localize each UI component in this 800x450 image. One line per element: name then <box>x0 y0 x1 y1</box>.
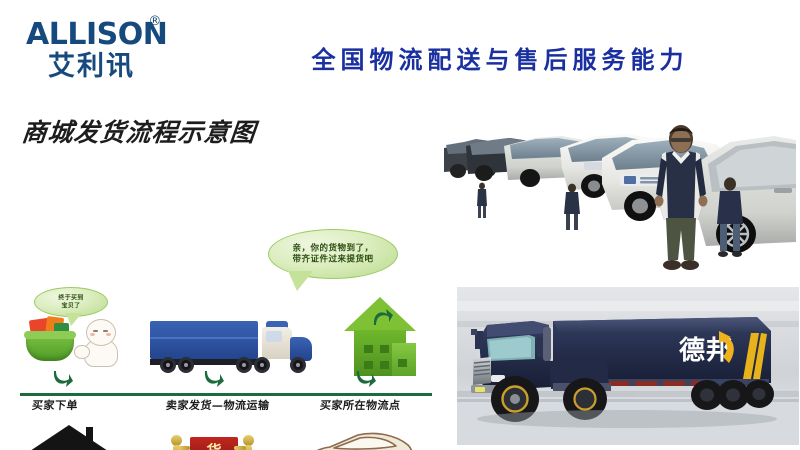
shipping-flow-diagram: 商城发货流程示意图 亲，你的货物到了， 带齐证件过来提货吧 终于买到 宝贝了 <box>0 105 440 415</box>
buyer-arm <box>74 345 90 359</box>
speech-bubble-small-text: 终于买到 宝贝了 <box>35 295 107 310</box>
building-window-2 <box>380 345 389 353</box>
mover-right-torso <box>245 445 252 450</box>
delivery-truck-icon <box>150 321 315 383</box>
speech-bubble-tail-icon <box>288 271 313 291</box>
company-logo: ALLISON ® 艾利讯 <box>26 20 216 90</box>
photo-company-fleet <box>444 118 796 278</box>
buyer-character-icon <box>78 319 122 367</box>
shopping-basket-icon <box>24 317 76 363</box>
truck-trailer <box>150 321 258 359</box>
basket-rim <box>24 331 76 339</box>
mover-left-arm <box>178 446 190 450</box>
truck-wheel-5 <box>290 357 306 373</box>
truck-wheel-1 <box>160 357 176 373</box>
brand-name-en: ALLISON <box>26 20 167 50</box>
truck-windshield <box>266 331 282 342</box>
flow-arrow-2-icon <box>203 369 225 391</box>
building-window-3 <box>364 361 373 369</box>
speech-bubble-small-line-2: 宝贝了 <box>35 302 107 310</box>
truck-wheel-2 <box>178 357 194 373</box>
goods-sign: 货 <box>190 437 238 450</box>
truck-wheel-3 <box>236 357 252 373</box>
buyer-cheek-right <box>106 333 111 336</box>
building-window-4 <box>380 361 389 369</box>
buyer-eye-left <box>93 330 98 332</box>
mover-right-figure <box>240 435 256 450</box>
flow-baseline-top <box>20 393 432 396</box>
buyer-eye-right <box>103 330 108 332</box>
flow-arrow-1-icon <box>52 369 74 391</box>
speech-bubble-small-line-1: 终于买到 <box>35 295 107 303</box>
buyer-car-icon <box>300 427 418 450</box>
step-label-1: 买家下单 <box>31 397 78 413</box>
diagram-title: 商城发货流程示意图 <box>20 113 258 149</box>
building-window-5 <box>398 359 407 367</box>
flow-arrow-3-icon <box>355 369 377 391</box>
buyer-head <box>86 319 116 346</box>
step-label-2: 卖家发货—物流运输 <box>165 397 270 413</box>
mover-right-arm <box>234 446 246 450</box>
brand-name-cn: 艾利讯 <box>48 53 216 81</box>
building-window-1 <box>364 345 373 353</box>
mover-left-figure <box>168 435 184 450</box>
truck-trailer-stripe <box>150 337 258 339</box>
truck-wheel-4 <box>254 357 270 373</box>
movers-carrying-goods-icon: 货 <box>168 427 258 450</box>
staff-member-foreground <box>650 124 712 280</box>
home-house-icon <box>30 425 108 450</box>
registered-trademark-icon: ® <box>148 14 161 29</box>
speech-bubble-line-2: 带齐证件过来提货吧 <box>269 254 397 265</box>
goods-sign-text: 货 <box>206 440 221 450</box>
page-title: 全国物流配送与售后服务能力 <box>240 40 760 75</box>
house-roof <box>30 425 108 450</box>
slide-root: ALLISON ® 艾利讯 全国物流配送与售后服务能力 商城发货流程示意图 亲，… <box>0 0 800 450</box>
speech-bubble-line-1: 亲，你的货物到了， <box>269 243 397 254</box>
speech-bubble-text: 亲，你的货物到了， 带齐证件过来提货吧 <box>269 243 397 264</box>
photo-logistics-truck: 德邦 <box>457 287 799 445</box>
step-label-3: 买家所在物流点 <box>319 397 401 413</box>
flow-arrow-return-icon <box>372 305 394 327</box>
buyer-cheek-left <box>90 333 95 336</box>
